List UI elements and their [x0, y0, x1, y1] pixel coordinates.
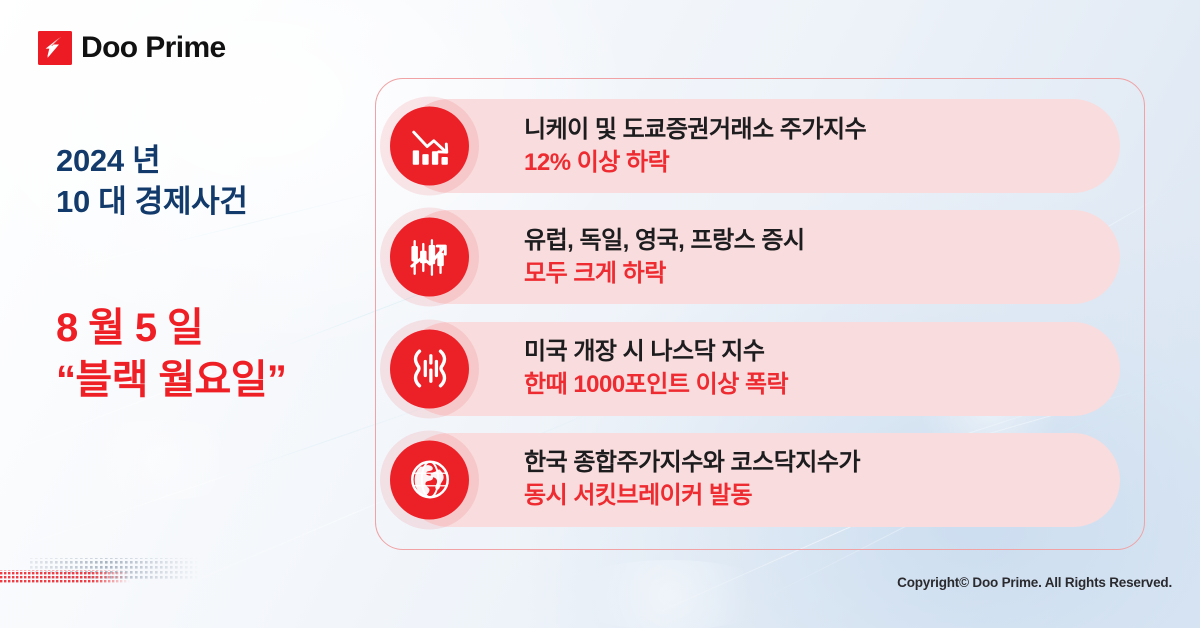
page-title-red: 8 월 5 일 “블랙 월요일”	[56, 302, 286, 406]
title-navy-line2: 10 대 경제사건	[56, 181, 248, 222]
title-red-line2: “블랙 월요일”	[56, 354, 286, 406]
list-item-text: 한국 종합주가지수와 코스닥지수가 동시 서킷브레이커 발동	[524, 448, 860, 511]
globe-icon	[390, 440, 469, 519]
list-item-title: 니케이 및 도쿄증권거래소 주가지수	[524, 115, 866, 145]
decorative-dot-band	[0, 556, 250, 596]
highlights-card: 니케이 및 도쿄증권거래소 주가지수 12% 이상 하락	[375, 78, 1145, 550]
market-volatility-icon	[390, 329, 469, 408]
brand-logo[interactable]: Doo Prime	[38, 31, 226, 65]
list-item-text: 니케이 및 도쿄증권거래소 주가지수 12% 이상 하락	[524, 115, 866, 178]
list-item-highlight: 동시 서킷브레이커 발동	[524, 481, 860, 511]
brand-name: Doo Prime	[81, 33, 226, 63]
title-navy-line1: 2024 년	[56, 140, 248, 181]
copyright-notice: Copyright© Doo Prime. All Rights Reserve…	[897, 575, 1172, 590]
list-item[interactable]: 한국 종합주가지수와 코스닥지수가 동시 서킷브레이커 발동	[402, 433, 1120, 527]
list-item[interactable]: 니케이 및 도쿄증권거래소 주가지수 12% 이상 하락	[402, 99, 1120, 193]
list-item-title: 한국 종합주가지수와 코스닥지수가	[524, 448, 860, 478]
list-item[interactable]: 미국 개장 시 나스닥 지수 한때 1000포인트 이상 폭락	[402, 322, 1120, 416]
list-item-highlight: 한때 1000포인트 이상 폭락	[524, 370, 788, 400]
declining-bar-chart-icon	[390, 107, 469, 186]
list-item-text: 유럽, 독일, 영국, 프랑스 증시 모두 크게 하락	[524, 226, 805, 289]
highlights-list: 니케이 및 도쿄증권거래소 주가지수 12% 이상 하락	[376, 79, 1144, 549]
page-title-navy: 2024 년 10 대 경제사건	[56, 140, 248, 222]
title-red-line1: 8 월 5 일	[56, 302, 286, 354]
list-item-highlight: 12% 이상 하락	[524, 148, 866, 178]
candlestick-chart-icon	[390, 218, 469, 297]
doo-prime-flag-mark-icon	[38, 31, 72, 65]
list-item-text: 미국 개장 시 나스닥 지수 한때 1000포인트 이상 폭락	[524, 337, 788, 400]
list-item-title: 미국 개장 시 나스닥 지수	[524, 337, 788, 367]
poster-canvas: Doo Prime 2024 년 10 대 경제사건 8 월 5 일 “블랙 월…	[0, 0, 1200, 628]
list-item-title: 유럽, 독일, 영국, 프랑스 증시	[524, 226, 805, 256]
list-item-highlight: 모두 크게 하락	[524, 259, 805, 289]
list-item[interactable]: 유럽, 독일, 영국, 프랑스 증시 모두 크게 하락	[402, 210, 1120, 304]
